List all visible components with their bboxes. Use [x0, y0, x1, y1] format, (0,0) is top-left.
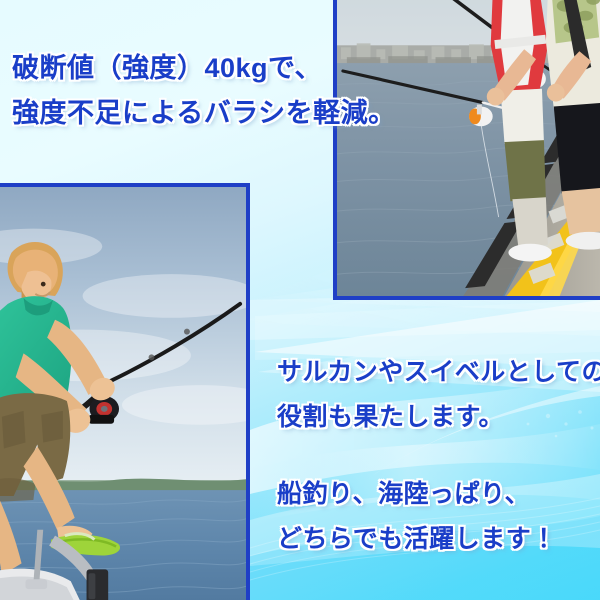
swivel-role-message: サルカンやスイベルとしての 役割も果たします。: [277, 350, 600, 440]
usage-scene-message-line-1: 船釣り、海陸っぱり、: [277, 472, 557, 517]
swivel-role-message-line-2: 役割も果たします。: [277, 395, 600, 440]
photo-pier-anglers: [333, 0, 600, 300]
usage-scene-message: 船釣り、海陸っぱり、 どちらでも活躍します！: [277, 472, 557, 562]
usage-scene-message-line-2: どちらでも活躍します！: [277, 517, 557, 562]
strength-headline: 破断値（強度）40kgで、 強度不足によるバラシを軽減。: [12, 46, 396, 136]
strength-headline-line-1: 破断値（強度）40kgで、: [12, 46, 396, 91]
promo-banner: 破断値（強度）40kgで、 強度不足によるバラシを軽減。 サルカンやスイベルとし…: [0, 0, 600, 600]
strength-headline-line-2: 強度不足によるバラシを軽減。: [12, 91, 396, 136]
photo-boat-angler: [0, 183, 250, 600]
swivel-role-message-line-1: サルカンやスイベルとしての: [277, 350, 600, 395]
